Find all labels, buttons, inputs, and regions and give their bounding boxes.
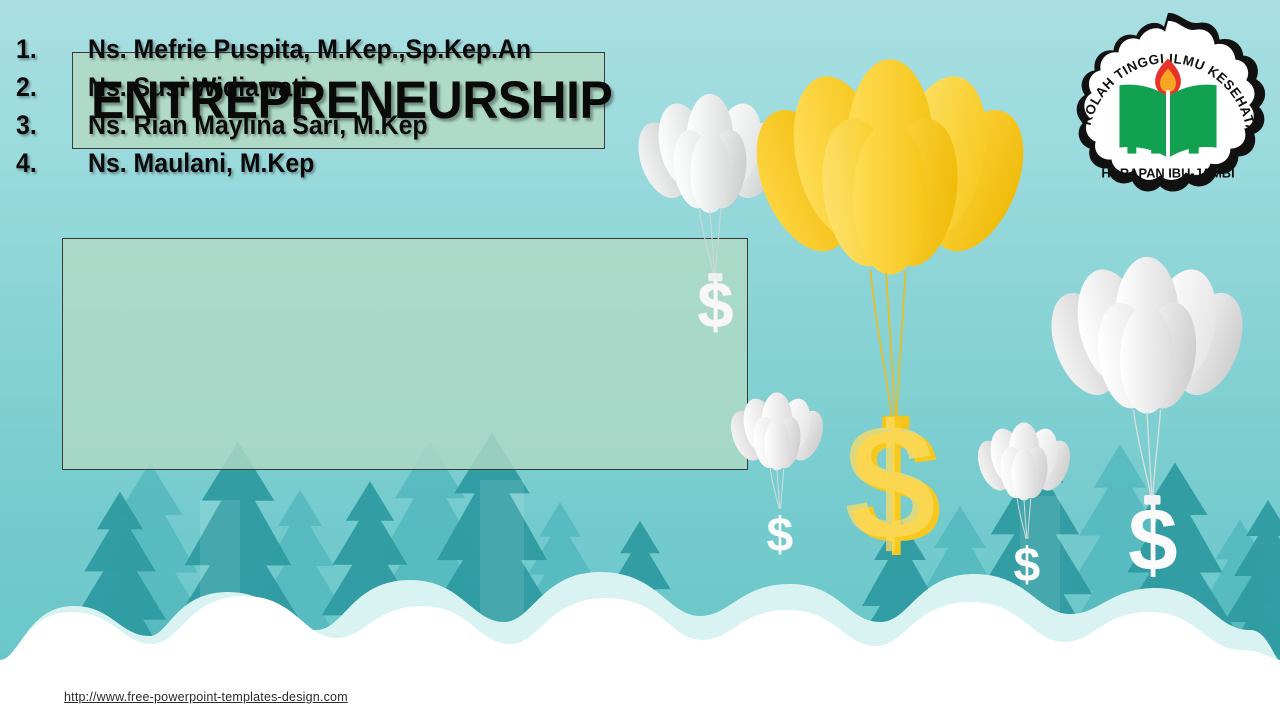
logo-bottom-text: HARAPAN IBU-JAMBI — [1101, 165, 1234, 180]
svg-text:$: $ — [767, 508, 794, 562]
list-item-number: 4. — [16, 148, 82, 179]
svg-text:$: $ — [1014, 538, 1041, 592]
list-item-label: Ns. Maulani, M.Kep — [88, 148, 314, 179]
svg-text:$: $ — [697, 269, 733, 341]
template-source-link[interactable]: http://www.free-powerpoint-templates-des… — [64, 690, 348, 704]
list-item-label: Ns. Rian Maylina Sari, M.Kep — [88, 110, 428, 141]
list-item-number: 3. — [16, 110, 82, 141]
list-item-number: 1. — [16, 34, 82, 65]
svg-text:$: $ — [1128, 489, 1178, 589]
stikes-harapan-ibu-jambi-logo: SEKOLAH TINGGI ILMU KESEHATAN — [1064, 6, 1272, 211]
presentation-slide: ENTREPRENEURSHIP 1. Ns. Mefrie Puspita, … — [0, 0, 1280, 720]
list-item-label: Ns. Susi Widiawati — [88, 72, 307, 103]
list-item-number: 2. — [16, 72, 82, 103]
svg-text:$: $ — [844, 390, 935, 574]
list-item-label: Ns. Mefrie Puspita, M.Kep.,Sp.Kep.An — [88, 34, 531, 65]
